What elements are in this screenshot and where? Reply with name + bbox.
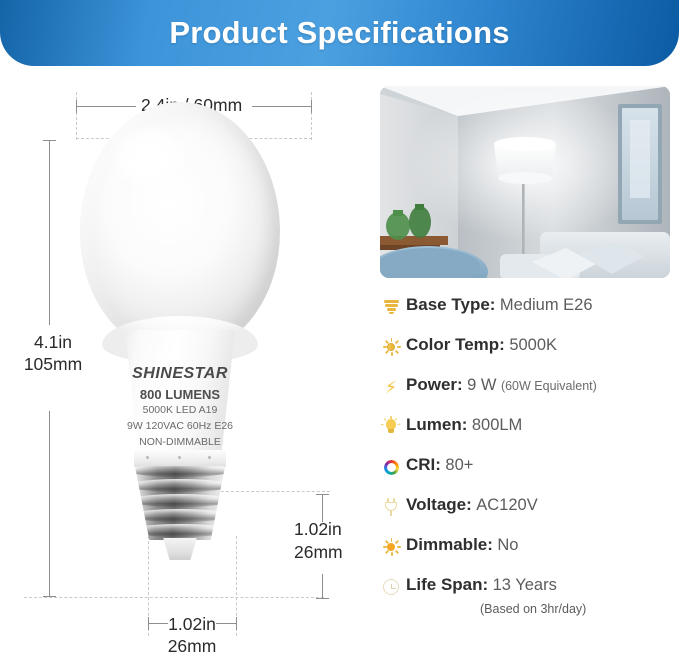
room-photo [380, 86, 670, 278]
spec-row-dimmable: Dimmable: No [376, 534, 679, 560]
spec-row-base-type: Base Type: Medium E26 [376, 294, 679, 320]
bulb-globe [80, 102, 280, 352]
bulb-print-line-2: 9W 120VAC 60Hz E26 [106, 419, 254, 433]
spec-value-lumen: 800LM [472, 416, 522, 434]
spec-value-voltage: AC120V [476, 496, 537, 514]
spec-text-power: Power: 9 W (60W Equivalent) [406, 374, 597, 395]
spec-label-voltage: Voltage: [406, 495, 472, 514]
base-collar [134, 450, 226, 468]
spec-value-power: 9 W [467, 376, 496, 394]
spec-row-lumen: Lumen: 800LM [376, 414, 679, 440]
spec-label-power: Power: [406, 375, 463, 394]
spec-label-color-temp: Color Temp: [406, 335, 505, 354]
clock-icon [376, 574, 406, 600]
spec-label-base-type: Base Type: [406, 295, 495, 314]
spec-value-base-type: Medium E26 [500, 296, 593, 314]
height-dim-cap-top [43, 140, 56, 141]
base-height-dim-cap-top [316, 494, 329, 495]
bulb-brand-text: SHINESTAR [106, 366, 254, 382]
spec-value-cri: 80+ [445, 456, 473, 474]
light-bulb-icon [376, 414, 406, 440]
bulb-lumens-text: 800 LUMENS [106, 388, 254, 401]
height-dim-line-upper [49, 140, 50, 325]
spec-text-lumen: Lumen: 800LM [406, 414, 522, 435]
spec-value-life-span: 13 Years [493, 576, 557, 594]
width-dim-cap-right [311, 100, 312, 113]
spec-text-voltage: Voltage: AC120V [406, 494, 538, 515]
specifications-list: Base Type: Medium E26 [376, 294, 679, 616]
specs-panel: Base Type: Medium E26 [372, 66, 679, 661]
spec-value-color-temp: 5000K [509, 336, 557, 354]
spec-text-color-temp: Color Temp: 5000K [406, 334, 557, 355]
spec-text-dimmable: Dimmable: No [406, 534, 518, 555]
page-title: Product Specifications [169, 15, 509, 51]
spec-value-dimmable: No [497, 536, 518, 554]
lightning-bolt-icon: ⚡ [376, 374, 406, 400]
spec-label-dimmable: Dimmable: [406, 535, 493, 554]
base-contact-tip [160, 538, 200, 560]
base-height-dim-cap-bottom [316, 598, 329, 599]
bulb-print-line-1: 5000K LED A19 [106, 403, 254, 417]
plug-icon [376, 494, 406, 520]
base-height-label-mm: 26mm [294, 542, 343, 562]
spec-row-color-temp: Color Temp: 5000K [376, 334, 679, 360]
spec-row-life-span: Life Span: 13 Years [376, 574, 679, 600]
spec-note-power: (60W Equivalent) [501, 379, 597, 393]
page-header: Product Specifications [0, 0, 679, 66]
spec-row-cri: CRI: 80+ [376, 454, 679, 480]
color-wheel-icon [376, 454, 406, 480]
base-threads [132, 466, 228, 540]
spec-text-cri: CRI: 80+ [406, 454, 473, 475]
base-height-dim-line-upper [322, 494, 323, 522]
bulb-print-line-3: NON-DIMMABLE [106, 435, 254, 449]
room-scene-illustration [380, 86, 670, 278]
height-dim-cap-bottom [43, 596, 56, 597]
spec-label-cri: CRI: [406, 455, 441, 474]
spec-row-power: ⚡ Power: 9 W (60W Equivalent) [376, 374, 679, 400]
light-bulb-illustration: SHINESTAR 800 LUMENS 5000K LED A19 9W 12… [72, 102, 288, 627]
bulb-printed-label: SHINESTAR 800 LUMENS 5000K LED A19 9W 12… [106, 366, 254, 450]
base-height-dim-line-lower [322, 574, 323, 599]
sun-icon [376, 534, 406, 560]
spec-label-life-span: Life Span: [406, 575, 488, 594]
spec-row-voltage: Voltage: AC120V [376, 494, 679, 520]
base-width-label-mm: 26mm [0, 636, 384, 656]
content-area: 2.4in / 60mm 4.1in 105mm 1.02in 26mm 1.0… [0, 66, 679, 661]
spec-text-life-span: Life Span: 13 Years [406, 574, 557, 595]
life-span-note: (Based on 3hr/day) [480, 602, 679, 616]
base-height-label-inches: 1.02in [294, 519, 342, 539]
color-temp-icon [376, 334, 406, 360]
height-dim-line-lower [49, 411, 50, 596]
bulb-diagram-panel: 2.4in / 60mm 4.1in 105mm 1.02in 26mm 1.0… [0, 66, 372, 661]
bulb-screw-base [132, 450, 228, 562]
spec-label-lumen: Lumen: [406, 415, 467, 434]
screw-base-icon [376, 294, 406, 320]
spec-text-base-type: Base Type: Medium E26 [406, 294, 593, 315]
